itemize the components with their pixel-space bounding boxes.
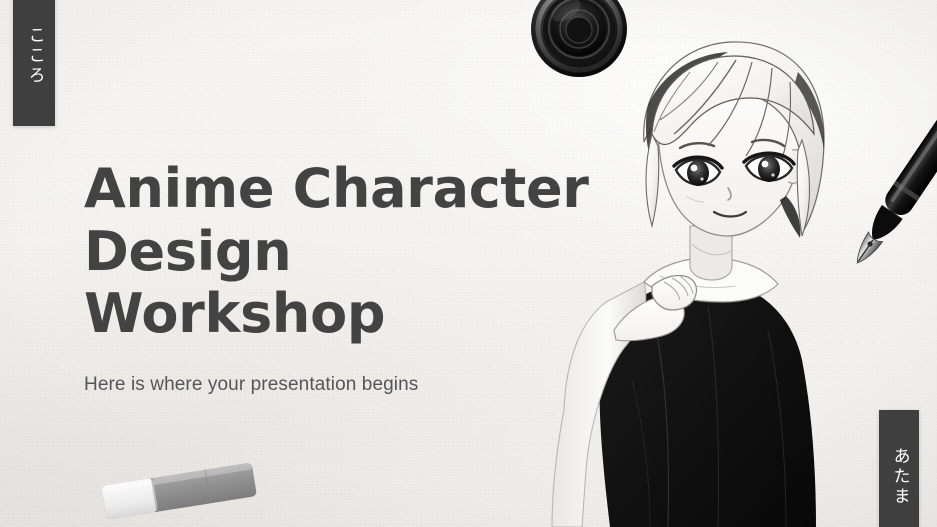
eraser-icon <box>98 458 263 527</box>
title-block: Anime Character Design Workshop Here is … <box>84 158 604 398</box>
page-subtitle: Here is where your presentation begins <box>84 372 604 398</box>
tab-kokoro[interactable]: こころ <box>13 0 55 126</box>
page-title: Anime Character Design Workshop <box>84 158 604 346</box>
tab-atama[interactable]: あたま <box>879 410 919 527</box>
presentation-slide: Anime Character Design Workshop Here is … <box>0 0 937 527</box>
character-hand <box>652 275 697 310</box>
pen-barrel <box>880 99 937 220</box>
camera-lens-icon <box>530 0 628 78</box>
fountain-pen-icon <box>838 118 937 303</box>
